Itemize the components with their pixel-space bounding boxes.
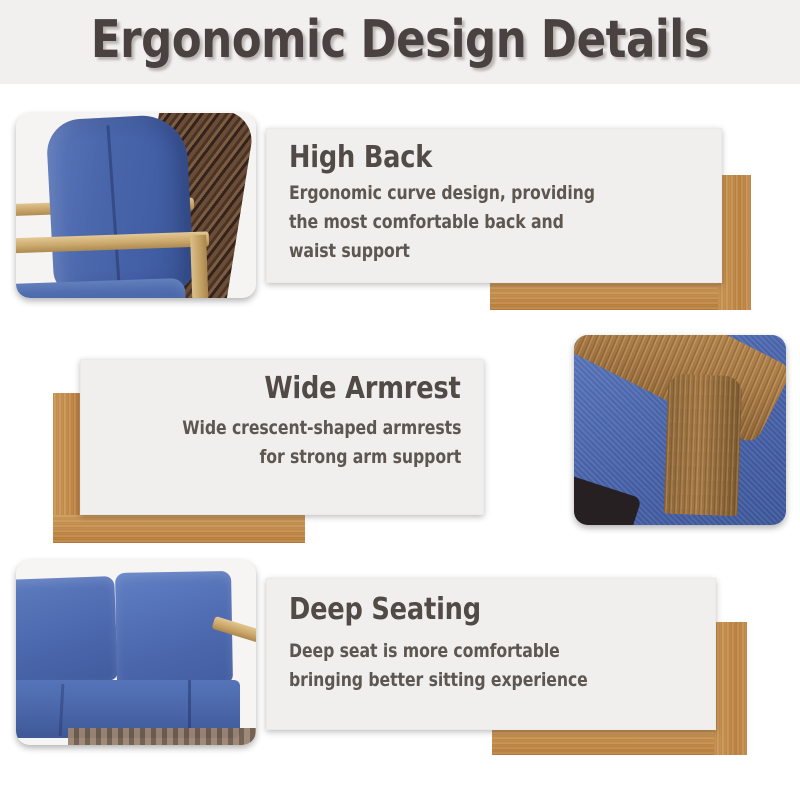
wood-horizontal-bar	[490, 282, 718, 310]
wood-vertical-bar	[711, 622, 747, 755]
back-cushion-left	[16, 576, 118, 684]
product-photo-high-back	[16, 113, 256, 298]
section-body-line-3: waist support	[289, 237, 410, 266]
page-title: Ergonomic Design Details	[28, 8, 772, 72]
product-photo-wide-armrest	[574, 335, 786, 525]
wicker-base	[68, 728, 256, 745]
section-body-line-1: Ergonomic curve design, providing	[289, 179, 595, 208]
section-body-line-2: bringing better sitting experience	[289, 666, 588, 695]
info-card-deep-seating: Deep Seating Deep seat is more comfortab…	[266, 578, 716, 730]
product-photo-deep-seating	[16, 560, 256, 745]
section-body-line-2: the most comfortable back and	[289, 208, 564, 237]
info-card-high-back: High Back Ergonomic curve design, provid…	[266, 128, 722, 283]
back-cushion	[46, 113, 195, 295]
section-heading: Wide Armrest	[265, 372, 461, 406]
section-body-line-1: Wide crescent-shaped armrests	[182, 414, 461, 443]
section-heading: High Back	[289, 141, 432, 175]
wood-armrest-face	[664, 374, 743, 516]
section-body-line-1: Deep seat is more comfortable	[289, 637, 560, 666]
wood-horizontal-bar	[492, 727, 714, 755]
section-body-line-2: for strong arm support	[259, 443, 461, 472]
info-card-wide-armrest: Wide Armrest Wide crescent-shaped armres…	[80, 359, 484, 515]
wood-horizontal-bar	[53, 515, 305, 543]
section-heading: Deep Seating	[289, 593, 481, 627]
